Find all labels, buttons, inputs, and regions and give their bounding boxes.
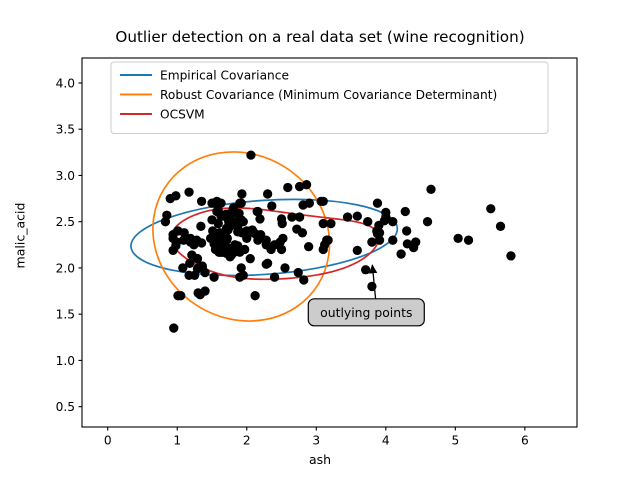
y-tick-label: 2.0 bbox=[56, 261, 75, 275]
data-point bbox=[250, 291, 259, 300]
data-point bbox=[230, 247, 239, 256]
data-point bbox=[277, 245, 286, 254]
data-point bbox=[402, 226, 411, 235]
annotation-label: outlying points bbox=[320, 305, 412, 320]
data-point bbox=[304, 242, 313, 251]
data-point bbox=[232, 217, 241, 226]
data-point bbox=[171, 191, 180, 200]
data-point bbox=[326, 219, 335, 228]
data-point bbox=[178, 263, 187, 272]
data-point bbox=[237, 228, 246, 237]
data-point bbox=[305, 199, 314, 208]
data-point bbox=[426, 185, 435, 194]
data-point bbox=[319, 197, 328, 206]
data-point bbox=[263, 259, 272, 268]
legend-label: Empirical Covariance bbox=[160, 68, 289, 82]
figure-canvas: Outlier detection on a real data set (wi… bbox=[0, 0, 640, 480]
x-tick-label: 1 bbox=[173, 434, 181, 448]
x-tick-label: 6 bbox=[521, 434, 529, 448]
y-tick-label: 1.0 bbox=[56, 354, 75, 368]
y-tick-label: 3.5 bbox=[56, 123, 75, 137]
data-point bbox=[280, 263, 289, 272]
data-point bbox=[220, 245, 229, 254]
data-point bbox=[180, 228, 189, 237]
x-tick-label: 0 bbox=[104, 434, 112, 448]
data-point bbox=[197, 197, 206, 206]
data-point bbox=[381, 208, 390, 217]
data-point bbox=[211, 245, 220, 254]
data-point bbox=[184, 187, 193, 196]
data-point bbox=[267, 201, 276, 210]
y-tick-marks: 0.51.01.52.02.53.03.54.0 bbox=[56, 76, 82, 414]
data-point bbox=[506, 251, 515, 260]
data-point bbox=[388, 217, 397, 226]
plot-area: 0123456 0.51.01.52.02.53.03.54.0 outlyin… bbox=[0, 0, 640, 480]
data-point bbox=[353, 246, 362, 255]
data-point bbox=[209, 273, 218, 282]
data-point bbox=[292, 224, 301, 233]
legend-label: OCSVM bbox=[160, 107, 205, 121]
data-point bbox=[343, 212, 352, 221]
data-point bbox=[168, 234, 177, 243]
data-point bbox=[277, 214, 286, 223]
x-tick-label: 4 bbox=[382, 434, 390, 448]
data-point bbox=[295, 212, 304, 221]
data-point bbox=[253, 207, 262, 216]
data-point bbox=[353, 211, 362, 220]
data-point bbox=[200, 268, 209, 277]
data-point bbox=[361, 265, 370, 274]
y-tick-label: 1.5 bbox=[56, 308, 75, 322]
y-tick-label: 4.0 bbox=[56, 76, 75, 90]
data-point bbox=[411, 237, 420, 246]
data-point bbox=[270, 273, 279, 282]
data-point bbox=[248, 225, 257, 234]
data-point bbox=[209, 199, 218, 208]
data-point bbox=[235, 199, 244, 208]
data-point bbox=[323, 236, 332, 245]
data-point bbox=[302, 180, 311, 189]
data-point bbox=[266, 245, 275, 254]
data-point bbox=[196, 222, 205, 231]
data-point bbox=[388, 236, 397, 245]
data-point bbox=[187, 236, 196, 245]
data-point bbox=[169, 323, 178, 332]
x-tick-label: 5 bbox=[451, 434, 459, 448]
data-point bbox=[486, 204, 495, 213]
data-point bbox=[375, 236, 384, 245]
data-point bbox=[235, 273, 244, 282]
x-tick-marks: 0123456 bbox=[104, 427, 529, 448]
y-tick-label: 0.5 bbox=[56, 400, 75, 414]
data-point bbox=[294, 268, 303, 277]
data-point bbox=[396, 249, 405, 258]
y-tick-label: 3.0 bbox=[56, 169, 75, 183]
data-point bbox=[423, 217, 432, 226]
data-point bbox=[299, 275, 308, 284]
data-point bbox=[464, 236, 473, 245]
annotation-arrow bbox=[372, 265, 375, 299]
data-point bbox=[403, 239, 412, 248]
x-tick-label: 3 bbox=[312, 434, 320, 448]
data-point bbox=[162, 211, 171, 220]
data-point bbox=[363, 217, 372, 226]
data-point bbox=[240, 245, 249, 254]
data-point bbox=[207, 215, 216, 224]
legend: Empirical CovarianceRobust Covariance (M… bbox=[111, 62, 548, 134]
data-point bbox=[196, 290, 205, 299]
data-point bbox=[453, 234, 462, 243]
data-point bbox=[373, 199, 382, 208]
data-point bbox=[176, 291, 185, 300]
x-tick-label: 2 bbox=[243, 434, 251, 448]
data-point bbox=[283, 183, 292, 192]
data-point bbox=[237, 189, 246, 198]
legend-label: Robust Covariance (Minimum Covariance De… bbox=[160, 88, 497, 102]
data-point bbox=[401, 207, 410, 216]
data-point bbox=[231, 208, 240, 217]
data-point bbox=[246, 254, 255, 263]
data-point bbox=[246, 150, 255, 159]
data-point bbox=[496, 222, 505, 231]
y-tick-label: 2.5 bbox=[56, 215, 75, 229]
data-point bbox=[263, 189, 272, 198]
